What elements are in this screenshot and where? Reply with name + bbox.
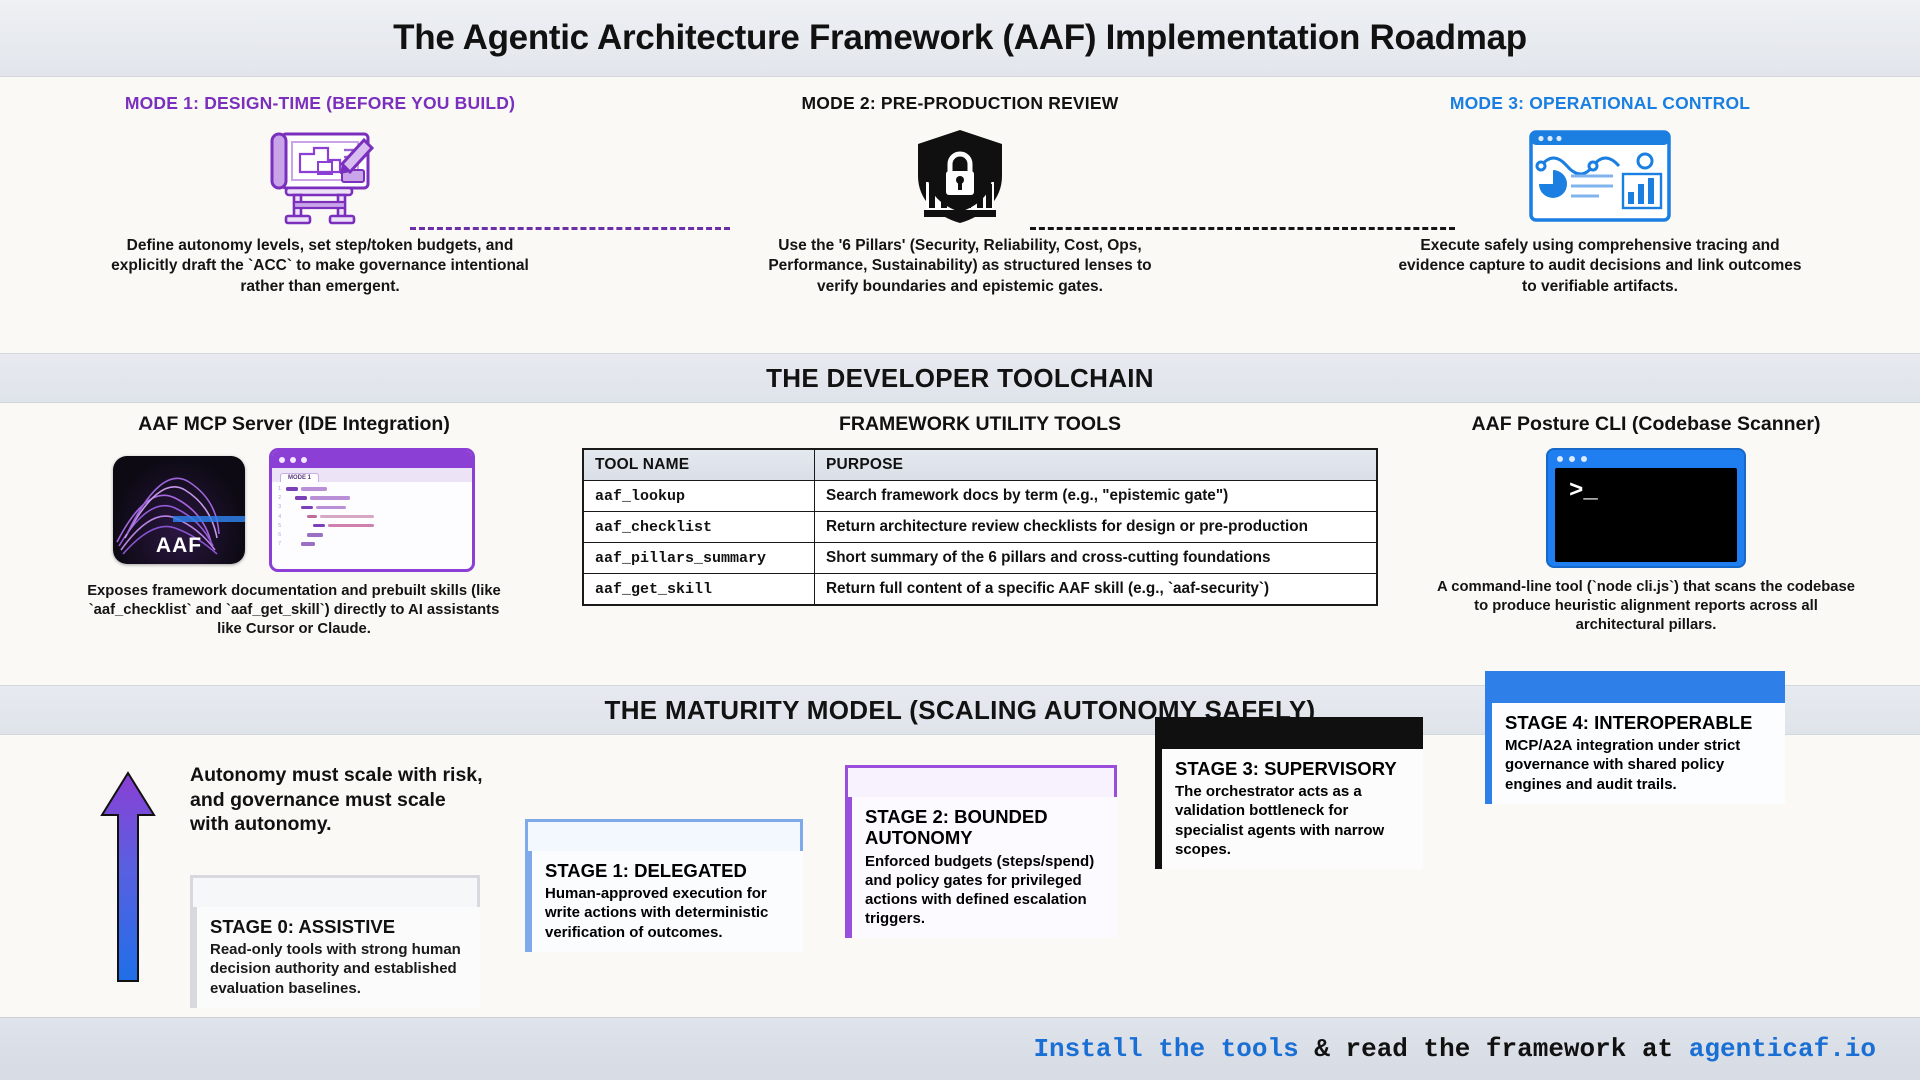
cell-tool-name: aaf_checklist <box>583 512 815 543</box>
stage-2-body: Enforced budgets (steps/spend) and polic… <box>865 852 1104 929</box>
mcp-server-title: AAF MCP Server (IDE Integration) <box>138 413 450 436</box>
cell-purpose: Return full content of a specific AAF sk… <box>815 574 1378 606</box>
ide-window-mock: MODE 1 1 2 3 4 5 6 7 <box>269 448 475 572</box>
stage-4-riser <box>1485 671 1785 707</box>
utility-tools-title: FRAMEWORK UTILITY TOOLS <box>839 413 1121 436</box>
stage-2-title: STAGE 2: BOUNDED AUTONOMY <box>865 806 1104 849</box>
stage-1-body: Human-approved execution for write actio… <box>545 884 790 942</box>
mode-2-heading: MODE 2: PRE-PRODUCTION REVIEW <box>802 93 1119 114</box>
window-dot-icon <box>1569 456 1575 462</box>
stage-0-body: Read-only tools with strong human decisi… <box>210 940 467 998</box>
stage-2-riser <box>845 765 1117 801</box>
footer-middle-text: & read the framework at <box>1299 1034 1689 1064</box>
window-dot-icon <box>1581 456 1587 462</box>
stage-3-title: STAGE 3: SUPERVISORY <box>1175 758 1410 779</box>
infographic-page: The Agentic Architecture Framework (AAF)… <box>0 0 1920 1080</box>
stage-card-2: STAGE 2: BOUNDED AUTONOMY Enforced budge… <box>845 797 1117 938</box>
shield-lock-pillars-icon <box>896 124 1024 228</box>
cell-purpose: Return architecture review checklists fo… <box>815 512 1378 543</box>
stage-card-3: STAGE 3: SUPERVISORY The orchestrator ac… <box>1155 749 1423 869</box>
maturity-quote: Autonomy must scale with risk, and gover… <box>190 763 490 837</box>
stage-3-body: The orchestrator acts as a validation bo… <box>1175 782 1410 859</box>
table-row: aaf_lookup Search framework docs by term… <box>583 481 1377 512</box>
mode-column-1: MODE 1: DESIGN-TIME (BEFORE YOU BUILD) <box>0 77 640 353</box>
stage-1-title: STAGE 1: DELEGATED <box>545 860 790 881</box>
toolchain-band-title: THE DEVELOPER TOOLCHAIN <box>766 363 1154 394</box>
cell-purpose: Short summary of the 6 pillars and cross… <box>815 543 1378 574</box>
stage-4-body: MCP/A2A integration under strict governa… <box>1505 736 1772 794</box>
mode-column-3: MODE 3: OPERATIONAL CONTROL <box>1280 77 1920 353</box>
aaf-logo: AAF <box>113 456 245 564</box>
ide-tab[interactable]: MODE 1 <box>280 473 319 482</box>
terminal-window-mock: >_ <box>1546 448 1746 568</box>
footer-cta[interactable]: Install the tools <box>1033 1034 1298 1064</box>
utility-tools-column: FRAMEWORK UTILITY TOOLS TOOL NAME PURPOS… <box>582 413 1378 685</box>
window-dot-icon <box>1557 456 1563 462</box>
dashboard-analytics-icon <box>1525 124 1675 228</box>
window-dot-icon <box>279 457 285 463</box>
footer-link[interactable]: agenticaf.io <box>1689 1034 1876 1064</box>
terminal-prompt: >_ <box>1569 480 1598 504</box>
mcp-server-column: AAF MCP Server (IDE Integration) <box>14 413 574 685</box>
posture-cli-title: AAF Posture CLI (Codebase Scanner) <box>1472 413 1821 436</box>
utility-tools-table: TOOL NAME PURPOSE aaf_lookup Search fram… <box>582 448 1378 606</box>
footer-bar: Install the tools & read the framework a… <box>0 1017 1920 1080</box>
cell-tool-name: aaf_lookup <box>583 481 815 512</box>
upward-gradient-arrow-icon <box>100 771 156 983</box>
maturity-model-section: Autonomy must scale with risk, and gover… <box>0 735 1920 1017</box>
column-header-purpose: PURPOSE <box>815 449 1378 481</box>
terminal-body: >_ <box>1555 468 1737 562</box>
mcp-server-description: Exposes framework documentation and preb… <box>79 582 509 640</box>
table-row: aaf_get_skill Return full content of a s… <box>583 574 1377 606</box>
stage-card-4: STAGE 4: INTEROPERABLE MCP/A2A integrati… <box>1485 703 1785 804</box>
terminal-titlebar <box>1548 450 1744 468</box>
posture-cli-column: AAF Posture CLI (Codebase Scanner) >_ A … <box>1386 413 1906 685</box>
table-row: aaf_pillars_summary Short summary of the… <box>583 543 1377 574</box>
mode-1-heading: MODE 1: DESIGN-TIME (BEFORE YOU BUILD) <box>125 93 515 114</box>
stage-3-riser <box>1155 717 1423 753</box>
stage-0-title: STAGE 0: ASSISTIVE <box>210 916 467 937</box>
ide-titlebar <box>272 451 472 468</box>
modes-row: MODE 1: DESIGN-TIME (BEFORE YOU BUILD) <box>0 77 1920 353</box>
mode-column-2: MODE 2: PRE-PRODUCTION REVIEW <box>640 77 1280 353</box>
mode-3-description: Execute safely using comprehensive traci… <box>1390 236 1810 297</box>
table-header-row: TOOL NAME PURPOSE <box>583 449 1377 481</box>
stage-card-1: STAGE 1: DELEGATED Human-approved execut… <box>525 851 803 952</box>
cell-tool-name: aaf_get_skill <box>583 574 815 606</box>
aaf-logo-label: AAF <box>113 534 245 558</box>
cell-tool-name: aaf_pillars_summary <box>583 543 815 574</box>
stage-4-title: STAGE 4: INTEROPERABLE <box>1505 712 1772 733</box>
blueprint-drafting-table-icon <box>256 124 384 228</box>
ide-code-area: 1 2 3 4 5 6 7 <box>272 482 472 547</box>
cell-purpose: Search framework docs by term (e.g., "ep… <box>815 481 1378 512</box>
table-row: aaf_checklist Return architecture review… <box>583 512 1377 543</box>
title-bar: The Agentic Architecture Framework (AAF)… <box>0 0 1920 77</box>
posture-cli-description: A command-line tool (`node cli.js`) that… <box>1431 578 1861 636</box>
stage-card-0: STAGE 0: ASSISTIVE Read-only tools with … <box>190 907 480 1008</box>
mode-1-description: Define autonomy levels, set step/token b… <box>110 236 530 297</box>
page-title: The Agentic Architecture Framework (AAF)… <box>393 18 1527 58</box>
toolchain-section: AAF MCP Server (IDE Integration) <box>0 403 1920 685</box>
mode-2-description: Use the '6 Pillars' (Security, Reliabili… <box>750 236 1170 297</box>
column-header-tool-name: TOOL NAME <box>583 449 815 481</box>
ide-tab-row: MODE 1 <box>272 468 472 482</box>
window-dot-icon <box>290 457 296 463</box>
stage-1-riser <box>525 819 803 855</box>
mode-3-heading: MODE 3: OPERATIONAL CONTROL <box>1450 93 1750 114</box>
toolchain-band: THE DEVELOPER TOOLCHAIN <box>0 353 1920 403</box>
window-dot-icon <box>301 457 307 463</box>
stage-0-riser <box>190 875 480 911</box>
